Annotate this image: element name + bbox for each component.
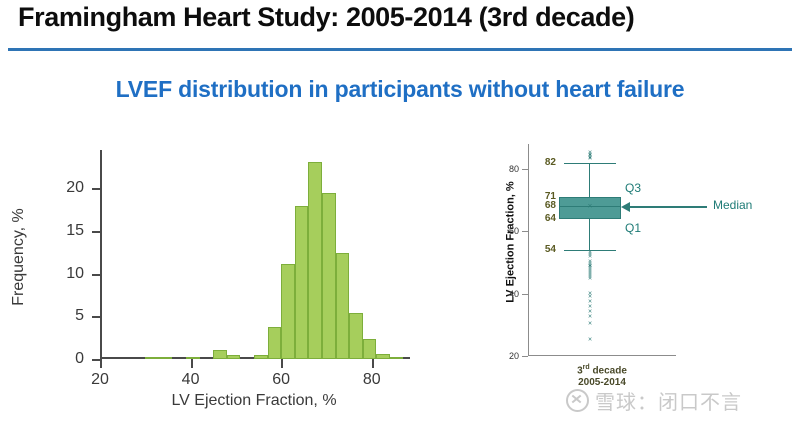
boxplot-y-tick-label: 80: [486, 164, 519, 174]
boxplot-y-tick: [522, 356, 528, 357]
title-divider: [8, 48, 792, 51]
histogram-y-tick: [92, 188, 101, 190]
histogram-x-axis-label: LV Ejection Fraction, %: [78, 392, 430, 410]
boxplot-outlier-point: ×: [588, 150, 592, 155]
boxplot-outlier-point: ×: [588, 338, 592, 343]
boxplot-ordinal-suffix: rd: [583, 364, 590, 371]
boxplot-q1-label: Q1: [625, 221, 641, 235]
boxplot-decade-word: decade: [592, 365, 626, 376]
boxplot-x-axis-label-decade: 3rd decade: [528, 362, 676, 377]
boxplot-outlier-point: ×: [588, 276, 592, 281]
boxplot-outlier-point: ×: [588, 315, 592, 320]
histogram-x-tick: [191, 359, 193, 368]
page-title: Framingham Heart Study: 2005-2014 (3rd d…: [18, 2, 634, 33]
xueqiu-logo-icon: [566, 389, 589, 412]
histogram-y-tick-label: 5: [44, 307, 84, 325]
histogram-bar: [186, 357, 200, 359]
median-arrow-head-icon: [621, 202, 630, 212]
boxplot-y-tick: [522, 169, 528, 170]
watermark-text: 雪球：闭口不言: [595, 386, 742, 415]
boxplot-value-label: 54: [526, 244, 556, 255]
histogram-bar: [322, 193, 336, 359]
boxplot-y-tick-label: 20: [486, 351, 519, 361]
median-annotation-label: Median: [713, 198, 752, 212]
histogram-bar: [159, 357, 173, 359]
histogram-y-tick: [92, 231, 101, 233]
histogram-bar: [227, 355, 241, 359]
watermark: 雪球：闭口不言: [566, 386, 742, 415]
page-subtitle: LVEF distribution in participants withou…: [0, 76, 800, 103]
boxplot-y-tick: [522, 231, 528, 232]
histogram-y-tick-label: 10: [44, 265, 84, 283]
histogram-x-tick: [372, 359, 374, 368]
boxplot-value-label: 68: [526, 200, 556, 211]
histogram-x-tick-label: 40: [169, 371, 213, 389]
histogram-bar: [145, 357, 159, 359]
histogram-y-tick-label: 20: [44, 179, 84, 197]
boxplot-mean-marker: ×: [588, 204, 593, 209]
histogram-bar: [268, 327, 282, 359]
boxplot-y-tick: [522, 294, 528, 295]
boxplot-y-tick-label: 40: [486, 289, 519, 299]
median-arrow-shaft: [629, 206, 707, 208]
histogram-bar: [308, 162, 322, 359]
histogram-chart: Frequency, % 05101520 20406080 LV Ejecti…: [18, 140, 438, 405]
histogram-y-tick: [92, 316, 101, 318]
histogram-x-tick-label: 60: [259, 371, 303, 389]
histogram-x-tick: [281, 359, 283, 368]
boxplot-outlier-point: ×: [588, 322, 592, 327]
histogram-bar: [376, 354, 390, 359]
boxplot-upper-whisker-cap: [564, 163, 616, 164]
histogram-y-axis-label: Frequency, %: [10, 208, 28, 306]
histogram-bar: [213, 350, 227, 359]
histogram-bar: [254, 355, 268, 359]
histogram-bar: [363, 339, 377, 359]
boxplot-value-label: 82: [526, 157, 556, 168]
boxplot-q3-label: Q3: [625, 181, 641, 195]
histogram-bar: [281, 264, 295, 359]
histogram-bar: [295, 206, 309, 359]
boxplot-y-axis-label: LV Ejection Fraction, %: [505, 181, 517, 302]
boxplot-value-label: 64: [526, 213, 556, 224]
boxplot-y-tick-label: 60: [486, 226, 519, 236]
histogram-x-tick-label: 80: [350, 371, 394, 389]
boxplot-chart: LV Ejection Fraction, % 20406080 ×827168…: [486, 140, 786, 385]
histogram-bar: [349, 313, 363, 359]
histogram-plot-area: [100, 154, 408, 359]
histogram-bar: [336, 253, 350, 359]
histogram-y-tick: [92, 274, 101, 276]
histogram-y-tick-label: 15: [44, 222, 84, 240]
histogram-x-tick: [100, 359, 102, 368]
histogram-bar: [390, 357, 404, 359]
histogram-x-tick-label: 20: [78, 371, 122, 389]
histogram-y-tick-label: 0: [44, 350, 84, 368]
